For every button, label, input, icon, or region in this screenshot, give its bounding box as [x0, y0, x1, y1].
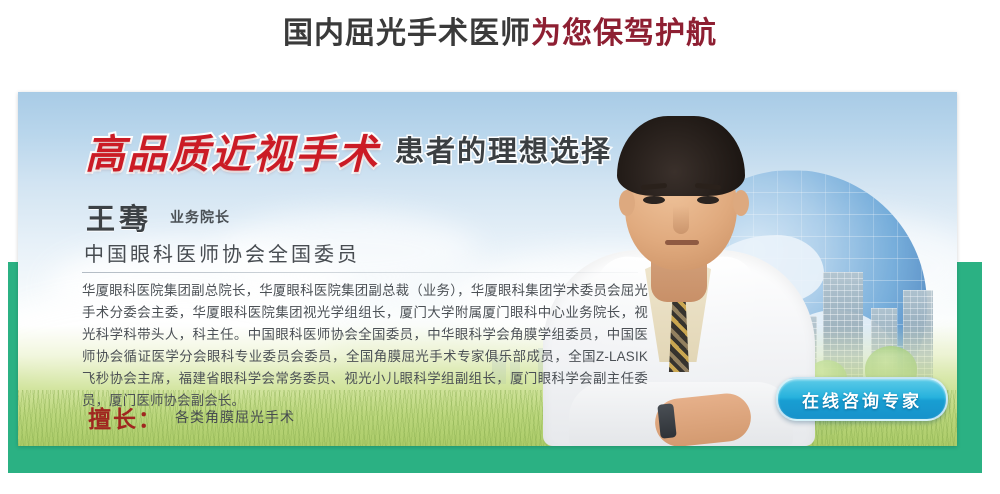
banner-headline-main: 高品质近视手术 [85, 122, 379, 180]
hair [617, 116, 745, 196]
specialty-value: 各类角膜屈光手术 [175, 409, 295, 425]
doctor-role: 业务院长 [170, 207, 230, 227]
doctor-bio: 华厦眼科医院集团副总院长，华厦眼科医院集团副总裁（业务），华厦眼科集团学术委员会… [82, 280, 648, 412]
specialty-line: 擅长：各类角膜屈光手术 [88, 400, 295, 434]
page-title-accent: 为您保驾护航 [531, 17, 717, 50]
page-title-lead: 国内屈光手术医师 [283, 17, 531, 50]
ear [619, 190, 635, 216]
ear [733, 190, 749, 216]
mouth [665, 240, 699, 245]
nose [673, 206, 689, 234]
specialty-label: 擅长： [88, 406, 163, 432]
wristwatch [657, 403, 676, 438]
cta-button-label: 在线咨询专家 [802, 387, 922, 412]
eye [643, 196, 665, 204]
online-consult-expert-button[interactable]: 在线咨询专家 [776, 377, 948, 421]
doctor-affiliation: 中国眼科医师协会全国委员 [84, 238, 360, 267]
page-title: 国内屈光手术医师为您保驾护航 [0, 14, 1000, 54]
banner-headline-sub: 患者的理想选择 [395, 128, 612, 170]
eye [697, 196, 719, 204]
doctor-name: 王骞 [86, 196, 152, 238]
divider [82, 272, 638, 273]
doctor-profile-banner: 高品质近视手术 患者的理想选择 王骞 业务院长 中国眼科医师协会全国委员 华厦眼… [18, 92, 957, 446]
